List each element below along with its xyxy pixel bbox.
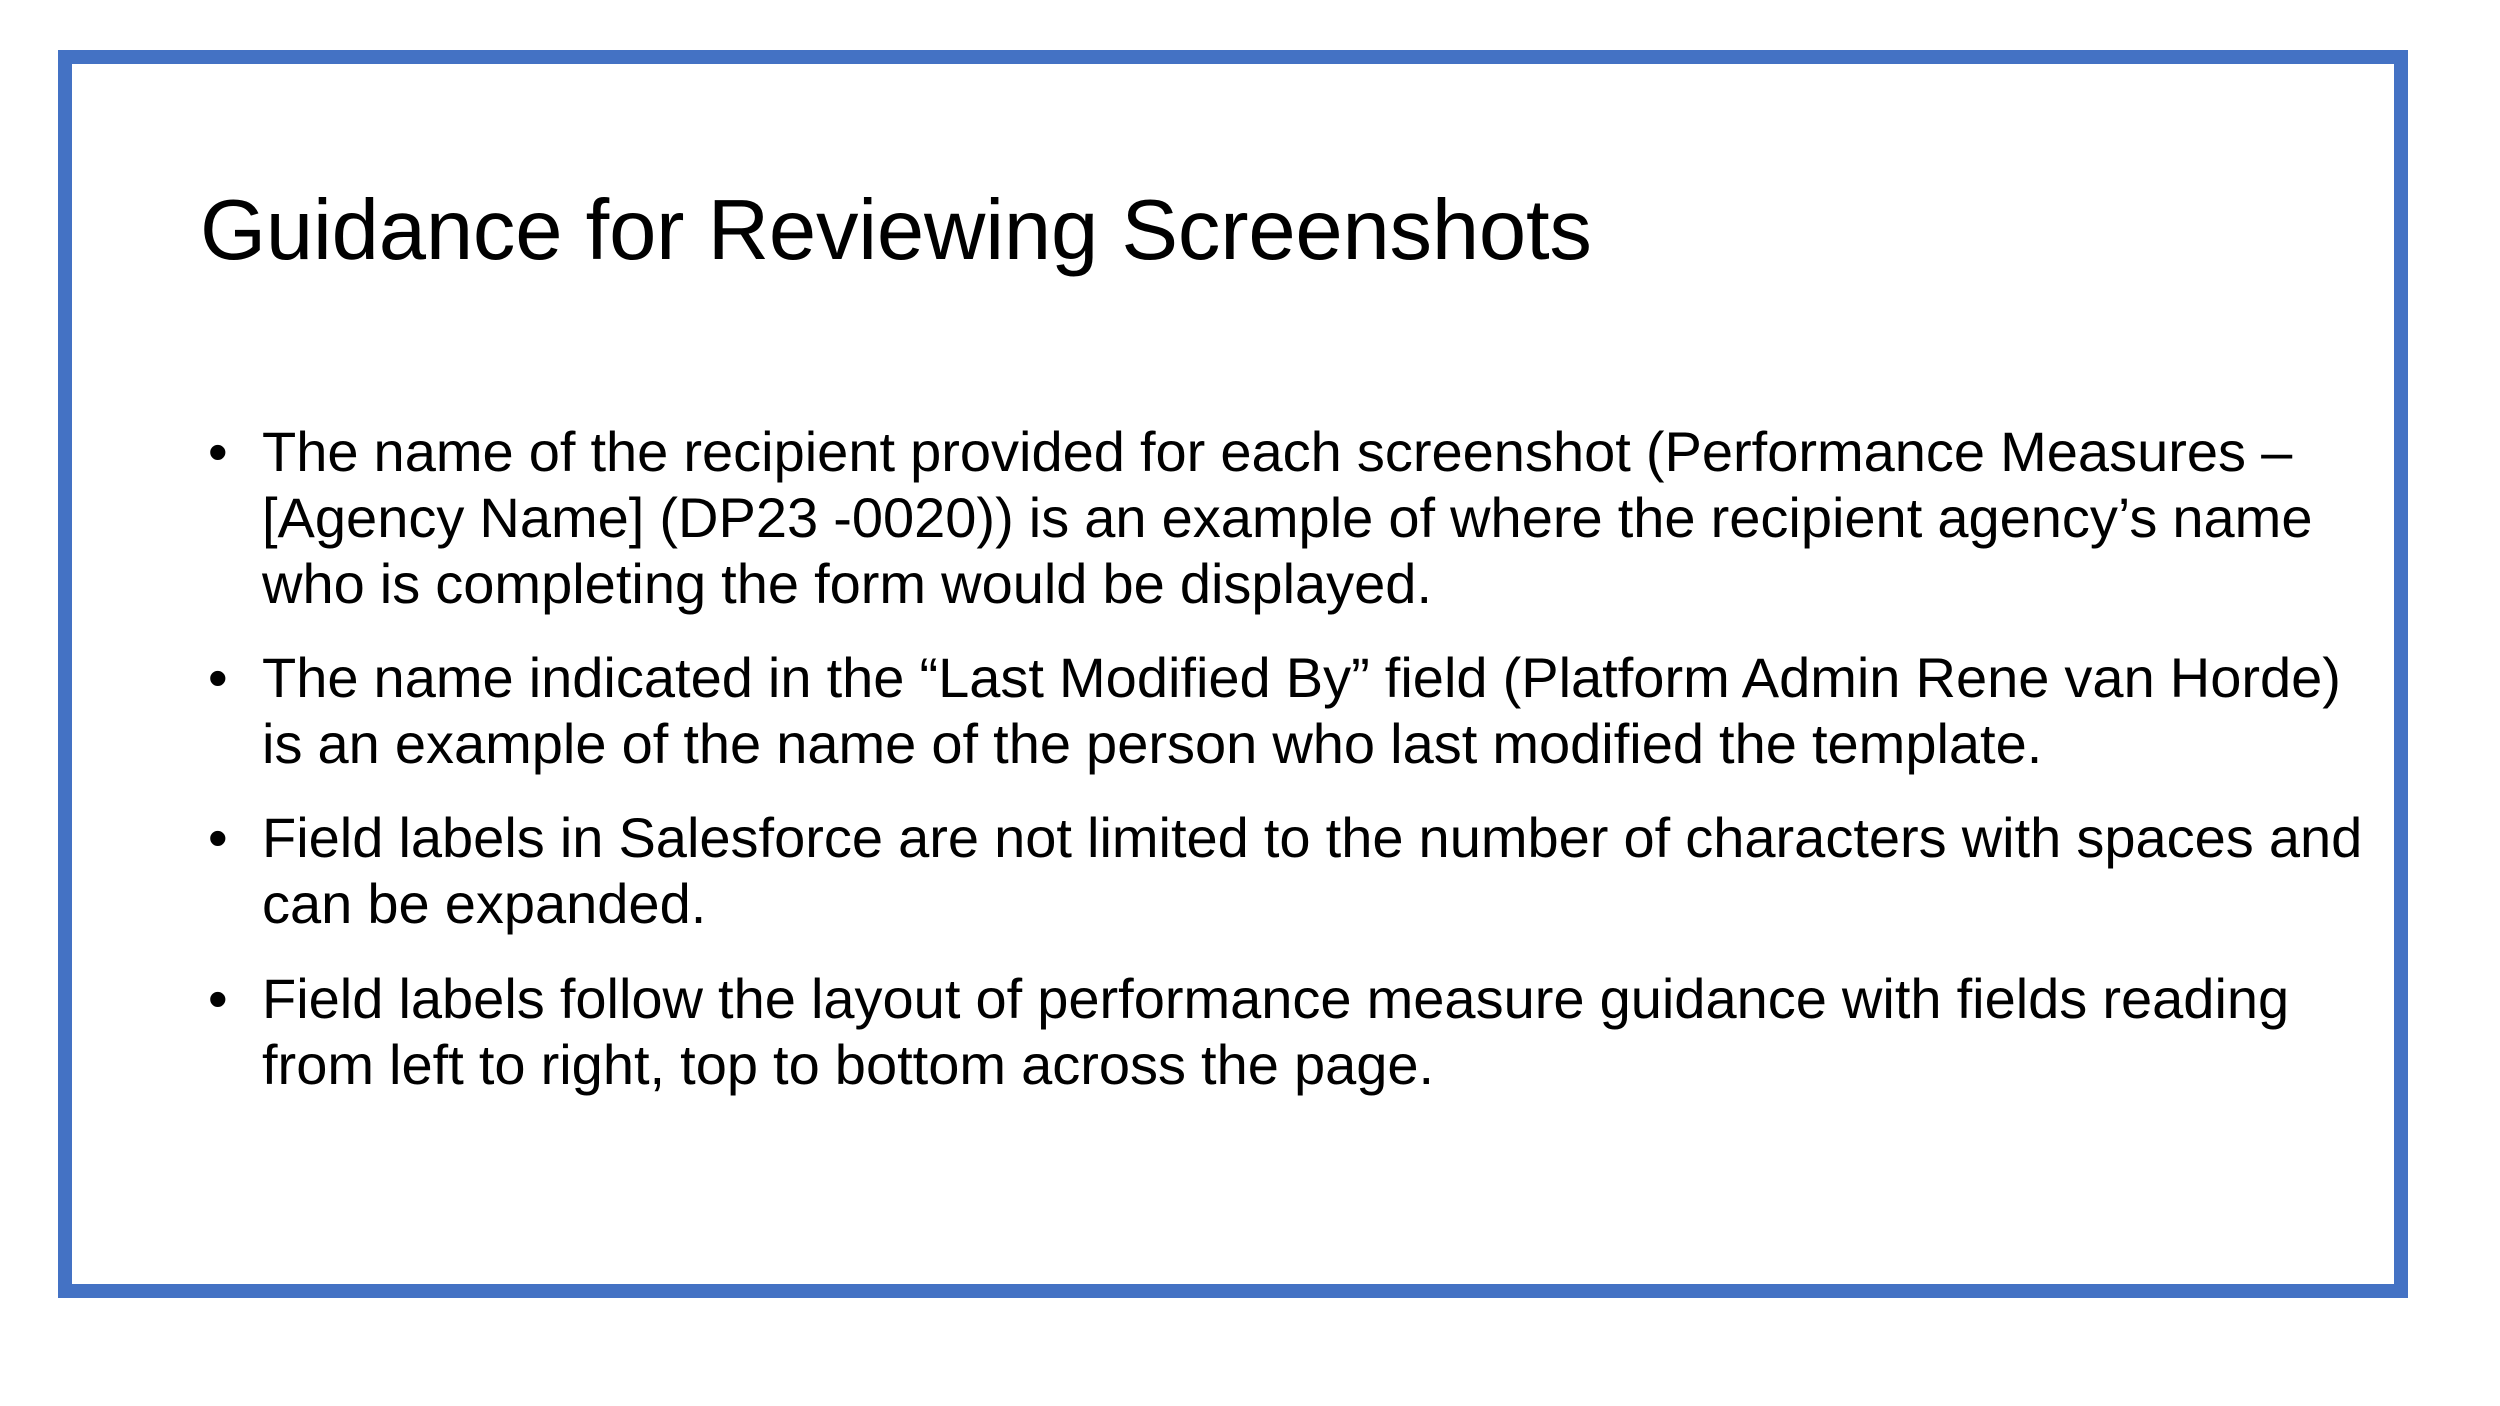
list-item: • The name indicated in the “Last Modifi… xyxy=(200,645,2380,777)
list-item: • Field labels follow the layout of perf… xyxy=(200,966,2380,1098)
slide-border-frame: Guidance for Reviewing Screenshots • The… xyxy=(58,50,2408,1298)
list-item-text: Field labels follow the layout of perfor… xyxy=(262,966,2380,1098)
list-item-text: The name indicated in the “Last Modified… xyxy=(262,645,2380,777)
list-item-text: The name of the recipient provided for e… xyxy=(262,419,2380,617)
bullet-point-icon: • xyxy=(208,805,248,871)
bullet-point-icon: • xyxy=(208,966,248,1032)
bullet-list: • The name of the recipient provided for… xyxy=(200,419,2380,1098)
bullet-point-icon: • xyxy=(208,645,248,711)
slide-body: Guidance for Reviewing Screenshots • The… xyxy=(72,64,2394,1284)
slide: Guidance for Reviewing Screenshots • The… xyxy=(0,0,2500,1406)
list-item: • The name of the recipient provided for… xyxy=(200,419,2380,617)
page-title: Guidance for Reviewing Screenshots xyxy=(200,186,2320,275)
list-item: • Field labels in Salesforce are not lim… xyxy=(200,805,2380,937)
list-item-text: Field labels in Salesforce are not limit… xyxy=(262,805,2380,937)
bullet-point-icon: • xyxy=(208,419,248,485)
